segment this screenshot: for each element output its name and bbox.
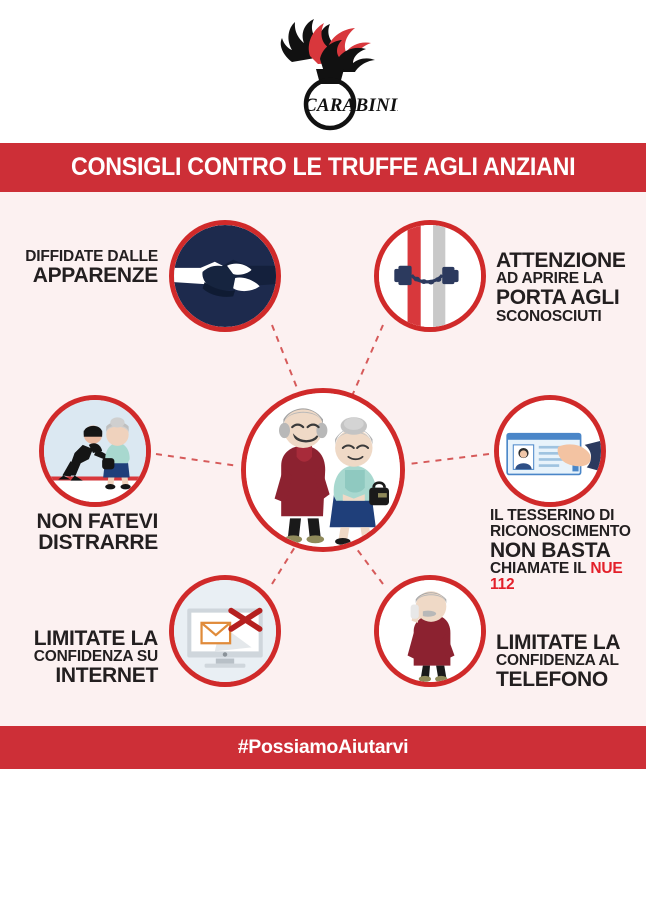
infographic-poster: CARABINIERI CONSIGLI CONTRO LE TRUFFE AG…	[0, 0, 646, 910]
tip-line: PORTA AGLI	[496, 287, 644, 308]
carabinieri-flaming-grenade-icon: CARABINIERI	[248, 12, 398, 132]
computer-email-blocked-icon	[174, 580, 276, 682]
connector-internet	[272, 542, 298, 584]
elderly-man-phone-icon	[379, 580, 481, 682]
tip-line: LIMITATE LA	[12, 628, 158, 649]
center-circle-elderly-couple[interactable]	[241, 388, 405, 552]
svg-text:CARABINIERI: CARABINIERI	[304, 95, 398, 116]
tip-line: CONFIDENZA SU	[12, 649, 158, 665]
connector-tesserino	[409, 454, 489, 464]
tip-circle-tesserino[interactable]	[494, 395, 606, 507]
tip-circle-distrarre[interactable]	[39, 395, 151, 507]
tip-circle-telefono[interactable]	[374, 575, 486, 687]
connector-telefono	[353, 544, 383, 584]
tip-line-emergency: CHIAMATE IL NUE 112	[490, 561, 642, 593]
tip-line: NON FATEVI	[12, 511, 158, 532]
tip-line: CONFIDENZA AL	[496, 653, 644, 669]
tip-label-apparenze: DIFFIDATE DALLE APPARENZE	[12, 249, 158, 286]
hashtag-bar: #PossiamoAiutarvi	[0, 726, 646, 769]
tip-label-telefono: LIMITATE LA CONFIDENZA AL TELEFONO	[496, 632, 644, 691]
tip-circle-internet[interactable]	[169, 575, 281, 687]
tip-circle-porta[interactable]	[374, 220, 486, 332]
tip-line: AD APRIRE LA	[496, 271, 644, 287]
tip-line: LIMITATE LA	[496, 632, 644, 653]
connector-distrarre	[156, 454, 238, 466]
footer: www.carabinieri.it	[0, 769, 646, 910]
tip-line: DISTRARRE	[12, 532, 158, 553]
page-title: CONSIGLI CONTRO LE TRUFFE AGLI ANZIANI	[71, 153, 575, 182]
tip-line: INTERNET	[12, 665, 158, 686]
connector-porta	[352, 325, 383, 396]
tip-line: DIFFIDATE DALLE	[12, 249, 158, 265]
campaign-hashtag: #PossiamoAiutarvi	[238, 736, 408, 759]
door-chain-icon	[379, 225, 481, 327]
pickpocket-thief-icon	[44, 400, 146, 502]
id-card-hand-icon	[499, 400, 601, 502]
tip-line: ATTENZIONE	[496, 250, 644, 271]
handshake-icon	[174, 225, 276, 327]
connector-apparenze	[272, 325, 301, 398]
tip-circle-apparenze[interactable]	[169, 220, 281, 332]
logo-wordmark: CARABINIERI	[304, 95, 398, 116]
tip-label-tesserino: IL TESSERINO DI RICONOSCIMENTO NON BASTA…	[490, 508, 642, 593]
elderly-couple-icon	[246, 393, 400, 547]
tip-line: NON BASTA	[490, 540, 642, 561]
poster-title-bar: CONSIGLI CONTRO LE TRUFFE AGLI ANZIANI	[0, 143, 646, 192]
tip-line: SCONOSCIUTI	[496, 309, 644, 325]
tip-line: IL TESSERINO DI	[490, 508, 642, 524]
tip-label-porta: ATTENZIONE AD APRIRE LA PORTA AGLI SCONO…	[496, 250, 644, 324]
tip-line: APPARENZE	[12, 265, 158, 286]
tip-line: RICONOSCIMENTO	[490, 524, 642, 540]
tip-label-distrarre: NON FATEVI DISTRARRE	[12, 511, 158, 554]
tip-line-prefix: CHIAMATE IL	[490, 560, 590, 577]
tip-line: TELEFONO	[496, 669, 644, 690]
logo-area: CARABINIERI	[0, 0, 646, 143]
tip-label-internet: LIMITATE LA CONFIDENZA SU INTERNET	[12, 628, 158, 687]
